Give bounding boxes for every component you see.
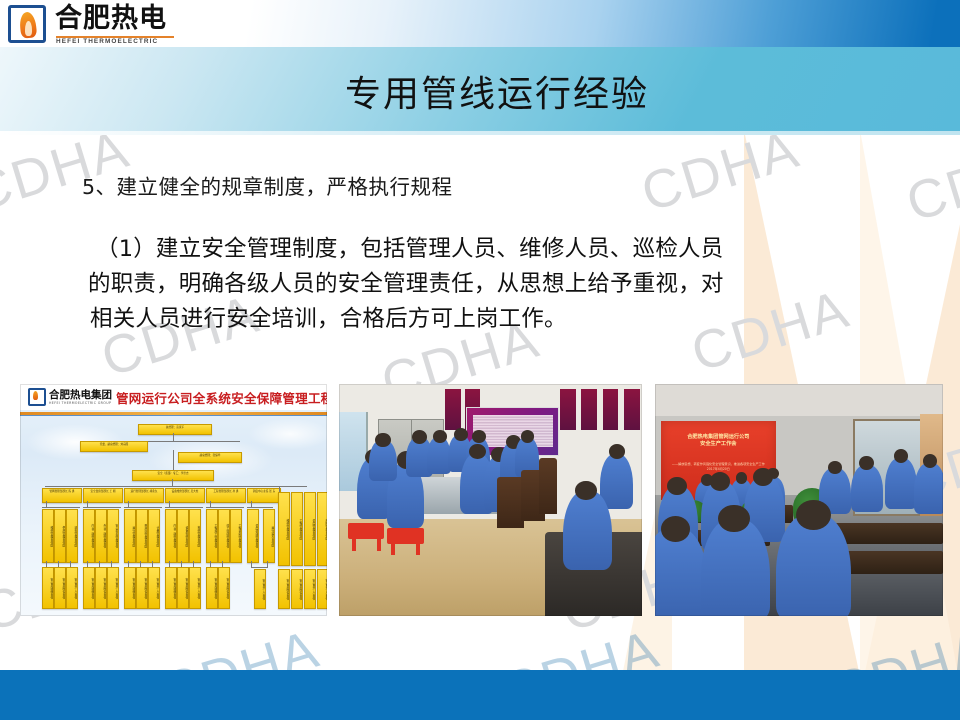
chair [539,458,557,514]
org-node-leaf: 安全员个人责任 [107,567,119,609]
org-node-unit: 工程管理责任区 [291,492,303,566]
org-node-unit: 内业二级管理责任 [165,509,177,563]
slide-root: CDHA CDHA CDHA CDHA CDHA CDHA CDHA CDHA … [0,0,960,720]
org-node-right2: 副总经理：张保华 [178,452,242,463]
footer-band [0,670,960,720]
org-chart-title: 管网运行公司全系统安全保障管理工程网络图 [116,388,327,407]
flame-icon [28,388,46,406]
org-node-unit: 热网管理责任区 [317,492,327,566]
org-node-leaf: 安全员岗位责任 [95,567,107,609]
person [701,519,770,616]
pennant [445,389,461,431]
person-head [859,456,873,470]
person-head [923,454,937,468]
org-node-unit: 维修管理责任区 [278,492,290,566]
org-node-unit: 内业二级管理责任 [83,509,95,563]
pennant [603,389,619,431]
org-chart-canvas: 合肥热电集团 HEFEI THERMOELECTRIC GROUP 管网运行公司… [20,384,327,616]
org-node-leaf: 安全员个人责任 [304,569,316,609]
company-logo: 合肥热电 HEFEI THERMOELECTRIC [8,3,178,47]
projection-subtitle: ——解放思想、转变作风强化安全管理意识，推进各项安全生产工作 2017年4月20… [668,462,769,471]
org-node-leaf: 安全员岗位责任 [177,567,189,609]
connector [172,479,173,486]
org-node-dept: 工程管理部部长 孙 勇 [206,488,246,503]
org-node-leaf: 安全员个人责任 [317,569,327,609]
org-node-leaf: 安全员岗位责任 [136,567,148,609]
section-heading: 5、建立健全的规章制度，严格执行规程 [82,170,453,200]
org-node-unit: 调度值班管理责任 [247,509,259,563]
stool [348,523,384,539]
person [851,465,883,511]
org-logo-chinese: 合肥热电集团 [49,390,112,401]
org-node-leaf: 安全员岗位责任 [218,567,230,609]
org-node-unit: 设备检修责任区 [177,509,189,563]
photo-row: 合肥热电集团 HEFEI THERMOELECTRIC GROUP 管网运行公司… [0,384,960,620]
org-node-unit: 工程资料管理责任 [230,509,242,563]
org-node-leaf: 安全员班组责任 [206,567,218,609]
image-org-chart[interactable]: 合肥热电集团 HEFEI THERMOELECTRIC GROUP 管网运行公司… [20,384,327,616]
person-head [753,468,773,487]
image-meeting[interactable] [339,384,642,616]
org-node-unit: 外业二级管理责任 [95,509,107,563]
meeting-photo [339,384,642,616]
paragraph-line-3: 相关人员进行安全培训，合格后方可上岗工作。 [90,302,888,337]
org-node-left2: 党委、副总经理：刘宗国 [80,441,148,452]
conference-photo: 合肥热电集团管网运行公司 安全生产工作会 ——解放思想、转变作风强化安全管理意识… [655,384,943,616]
org-node-dept: 调度中心主任 张 东 [247,488,281,503]
logo-english-text: HEFEI THERMOELECTRIC [56,38,158,45]
org-node-leaf: 安全员班组责任 [83,567,95,609]
person-head [710,472,730,491]
org-node-leaf: 安全员岗位责任 [278,569,290,609]
person [914,463,943,514]
org-node-top: 总经理：高永军 [138,424,212,435]
org-node-dept: 安全监察部部长 王 刚 [83,488,123,503]
org-node-unit: 竣工验收管理责任 [218,509,230,563]
org-node-dept: 管网管理部部长 陈 勇 [42,488,82,503]
connector [173,450,174,470]
org-node-unit: 维修管理责任区 [42,509,54,563]
paragraph-line-2: 的职责，明确各级人员的安全管理责任，从思想上给予重视，对 [88,267,888,302]
org-node-unit: 计量管理责任区 [148,509,160,563]
org-node-unit: 换热站管理责任区 [136,509,148,563]
org-node-unit: 调度管理责任区 [304,492,316,566]
person-head [575,481,596,500]
org-node-unit: 运行监控责任区 [263,509,275,563]
org-logo-english: HEFEI THERMOELECTRIC GROUP [49,401,112,405]
org-node-leaf: 安全员岗位责任 [54,567,66,609]
org-node-dept: 设备维修部部长 吴大柱 [165,488,205,503]
org-node-leaf: 安全员班组责任 [165,567,177,609]
person [885,458,917,509]
flame-icon [8,5,46,43]
org-node-leaf: 安全员个人责任 [148,567,160,609]
org-node-safety: 安全（质量）专工：李世志 [132,470,214,481]
org-node-leaf: 安全员个人责任 [189,567,201,609]
person-head [375,433,390,447]
person-head [472,430,486,443]
pennant [581,389,597,431]
person-head [661,516,690,542]
ceiling [655,384,943,416]
org-node-unit: 安全检查管理责任 [107,509,119,563]
org-node-unit: 供热管理责任区 [54,509,66,563]
org-node-unit: 工程施工管理责任 [206,509,218,563]
connector [45,486,307,487]
person-head [736,472,748,484]
projection-title: 合肥热电集团管网运行公司 安全生产工作会 [668,434,769,448]
person-head [667,477,687,496]
page-title: 专用管线运行经验 [0,47,960,135]
org-chart-rule-thin [20,415,327,416]
watermark-text: CDHA [899,128,960,234]
org-node-unit: 运行管理责任区 [124,509,136,563]
org-node-leaf: 安全员个人责任 [66,567,78,609]
org-node-leaf: 安全员班组责任 [42,567,54,609]
person-head [796,500,831,530]
person [563,491,611,570]
body-paragraph: （1）建立安全管理制度，包括管理人员、维修人员、巡检人员 的职责，明确各级人员的… [88,232,888,337]
org-node-leaf: 安全员岗位责任 [291,569,303,609]
org-node-leaf: 安全员个人责任 [254,569,266,609]
image-conference[interactable]: 合肥热电集团管网运行公司 安全生产工作会 ——解放思想、转变作风强化安全管理意识… [655,384,943,616]
person-head [454,428,468,441]
chair [497,477,524,528]
pennant [624,389,640,431]
paragraph-line-1: （1）建立安全管理制度，包括管理人员、维修人员、巡检人员 [96,232,888,267]
org-chart-logo: 合肥热电集团 HEFEI THERMOELECTRIC GROUP [28,387,112,407]
org-node-unit: 抢修管理责任区 [189,509,201,563]
org-node-leaf: 安全员班组责任 [124,567,136,609]
org-node-dept: 运行管理部部长 胡永久 [124,488,164,503]
pennant [560,389,576,431]
org-node-unit: 巡检管理责任区 [66,509,78,563]
connector [173,433,174,441]
person-head [433,430,447,443]
logo-chinese-text: 合肥热电 [55,4,167,34]
stool [387,528,423,544]
